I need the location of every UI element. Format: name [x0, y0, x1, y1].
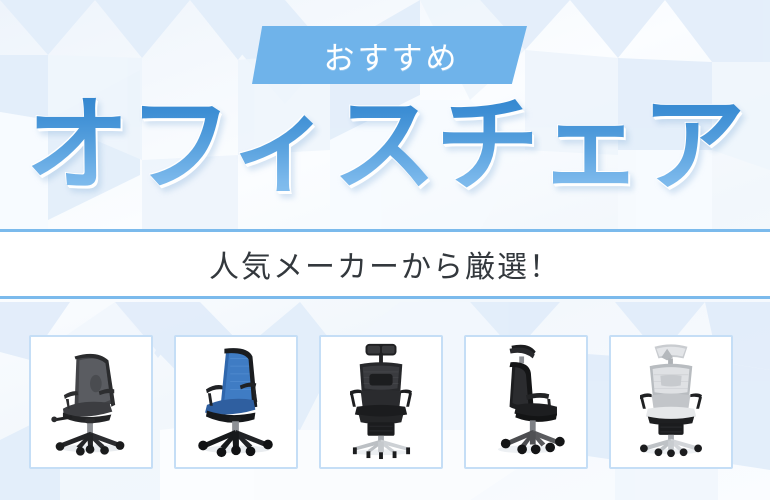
office-chair-photo-icon — [611, 335, 731, 467]
promo-banner: おすすめ オフィスチェア 人気メーカーから厳選！ — [0, 0, 770, 500]
chair-card-1[interactable] — [29, 335, 153, 469]
recommended-ribbon: おすすめ — [252, 26, 527, 84]
subtitle-band: 人気メーカーから厳選！ — [0, 229, 770, 299]
chair-card-row — [0, 299, 770, 500]
chair-card-3[interactable] — [319, 335, 443, 469]
chair-photo-4 — [466, 337, 586, 467]
office-chair-photo-icon — [321, 335, 441, 467]
chair-photo-5 — [611, 337, 731, 467]
page-title: オフィスチェア — [0, 86, 770, 206]
chair-photo-1 — [31, 337, 151, 467]
office-chair-photo-icon — [31, 335, 151, 467]
chair-photo-2 — [176, 337, 296, 467]
office-chair-photo-icon — [466, 335, 586, 467]
hero-section: おすすめ オフィスチェア — [0, 0, 770, 229]
chair-photo-3 — [321, 337, 441, 467]
ribbon-label: おすすめ — [252, 26, 527, 84]
chair-card-2[interactable] — [174, 335, 298, 469]
subtitle-text: 人気メーカーから厳選！ — [209, 242, 561, 286]
chair-card-5[interactable] — [609, 335, 733, 469]
office-chair-photo-icon — [176, 335, 296, 467]
chair-card-4[interactable] — [464, 335, 588, 469]
